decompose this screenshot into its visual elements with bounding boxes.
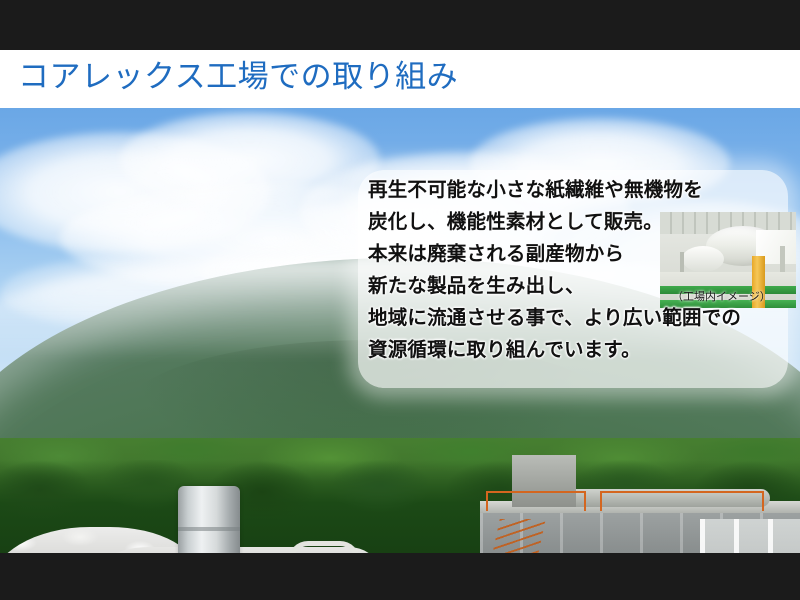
slide-surface: コアレックス工場での取り組み xyxy=(0,50,800,553)
inset-photo-caption: （工場内イメージ） xyxy=(672,290,771,304)
orange-railing xyxy=(600,491,764,511)
slide-title-bar: コアレックス工場での取り組み xyxy=(0,50,800,108)
page-title: コアレックス工場での取り組み xyxy=(18,55,458,99)
callout-text: 再生不可能な小さな紙繊維や無機物を 炭化し、機能性素材として販売。 本来は廃棄さ… xyxy=(368,174,786,366)
callout-line: 再生不可能な小さな紙繊維や無機物を xyxy=(368,174,786,206)
silver-stack xyxy=(178,486,240,553)
orange-railing xyxy=(486,491,586,511)
pipe-arch xyxy=(288,541,360,553)
presentation-slide: コアレックス工場での取り組み xyxy=(0,0,800,600)
stack-ring xyxy=(178,527,240,531)
main-photo: コアレックス道栄工場（倶知安町） （工場内イメージ） 再生不可能な小さな紙繊維や… xyxy=(0,108,800,553)
callout-line: 炭化し、機能性素材として販売。 xyxy=(368,206,786,238)
callout-line: 資源循環に取り組んでいます。 xyxy=(368,334,786,366)
white-silo-wall xyxy=(700,519,800,553)
letterbox-band-top xyxy=(0,0,800,50)
callout-line: 本来は廃棄される副産物から xyxy=(368,238,786,270)
callout-line: 地域に流通させる事で、より広い範囲での xyxy=(368,302,786,334)
recycling-plant xyxy=(0,493,800,553)
letterbox-band-bottom xyxy=(0,553,800,600)
